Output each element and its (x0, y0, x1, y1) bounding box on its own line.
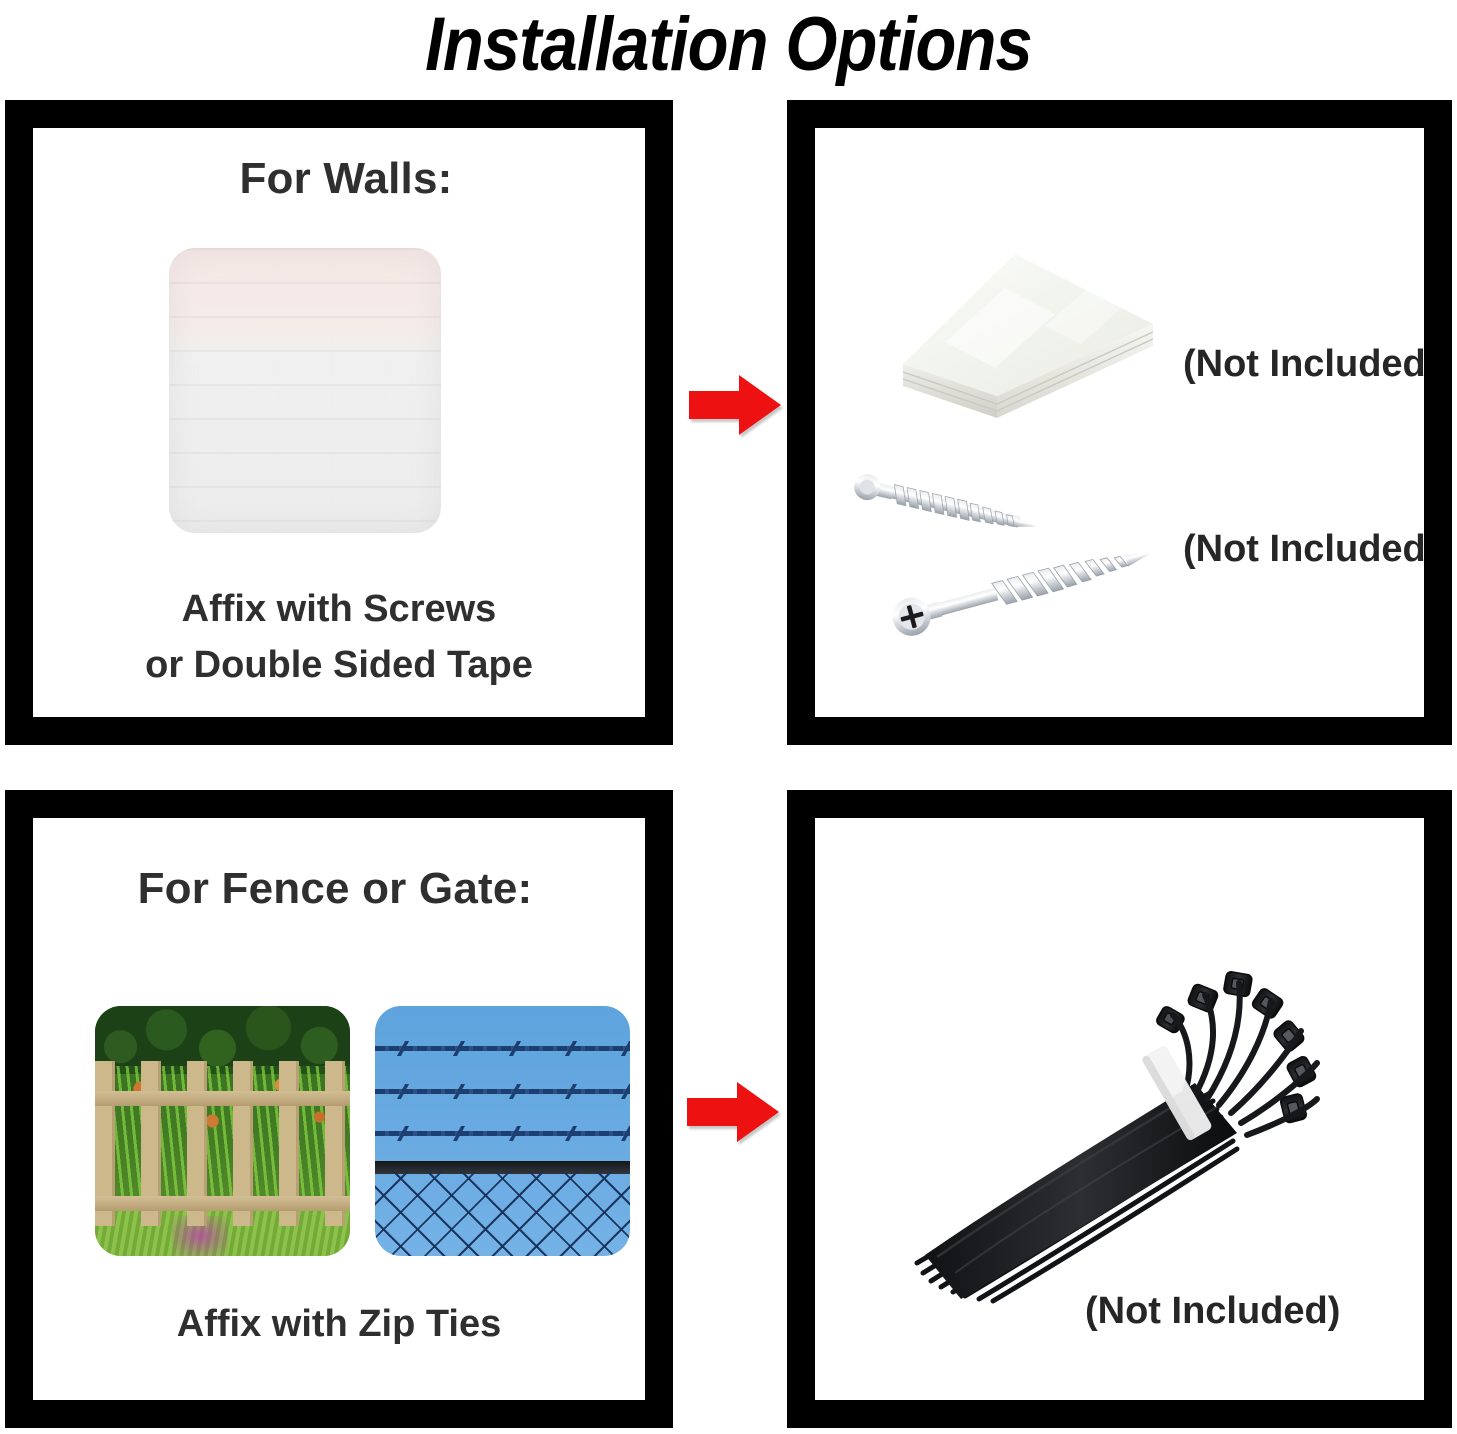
panel-for-fence-content: For Fence or Gate: Affix wit (33, 818, 645, 1400)
chain-link-fence-image (375, 1006, 630, 1256)
panel-fence-hardware-content: (Not Included) (815, 818, 1424, 1400)
wood-screws-image (843, 458, 1183, 643)
red-right-arrow-icon-bottom (687, 1080, 779, 1144)
page-title: Installation Options (87, 2, 1369, 88)
for-walls-caption-line2: or Double Sided Tape (33, 637, 645, 693)
screws-not-included-label: (Not Included) (1183, 528, 1424, 571)
wooden-picket-fence-image (95, 1006, 350, 1256)
panel-fence-hardware: (Not Included) (787, 790, 1452, 1428)
panel-wall-hardware-content: (Not Included) (815, 128, 1424, 717)
panel-for-fence-or-gate: For Fence or Gate: Affix wit (5, 790, 673, 1428)
panel-for-walls: For Walls: Affix with Screws or Double S… (5, 100, 673, 745)
red-right-arrow-icon-top (689, 373, 781, 437)
for-fence-caption: Affix with Zip Ties (33, 1296, 645, 1352)
panel-for-walls-content: For Walls: Affix with Screws or Double S… (33, 128, 645, 717)
for-walls-caption: Affix with Screws or Double Sided Tape (33, 581, 645, 693)
double-sided-tape-image (885, 246, 1185, 426)
for-walls-heading: For Walls: (33, 154, 645, 204)
zip-ties-image (865, 943, 1365, 1318)
panel-wall-hardware: (Not Included) (787, 100, 1452, 745)
white-brick-wall-image (169, 248, 441, 533)
for-fence-heading: For Fence or Gate: (33, 864, 645, 914)
zip-ties-not-included-label: (Not Included) (1085, 1290, 1340, 1333)
tape-not-included-label: (Not Included) (1183, 343, 1424, 386)
for-walls-caption-line1: Affix with Screws (33, 581, 645, 637)
